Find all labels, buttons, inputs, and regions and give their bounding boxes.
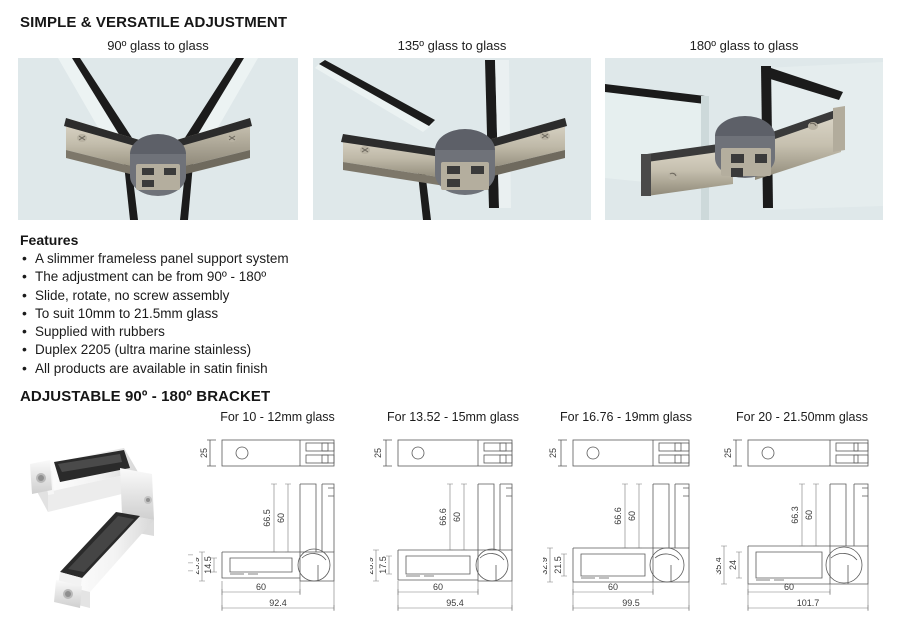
dim-top-height: 25: [723, 448, 733, 458]
dim-horiz-inner: 60: [256, 582, 266, 592]
dim-horiz-outer: 92.4: [269, 598, 287, 608]
dim-horiz-outer: 95.4: [446, 598, 464, 608]
dim-horiz-outer-v: 28.9: [370, 557, 375, 575]
dim-horiz-outer-v: 32.9: [543, 557, 549, 575]
dim-vert-outer: 66.5: [262, 509, 272, 527]
drawing-caption-3: For 20 - 21.50mm glass: [718, 410, 886, 424]
dim-vert-inner: 60: [276, 513, 286, 523]
features-list: A slimmer frameless panel support system…: [20, 250, 380, 378]
dim-horiz-inner-v: 21.5: [553, 556, 563, 574]
dim-vert-inner: 60: [452, 512, 462, 522]
features-block: Features A slimmer frameless panel suppo…: [20, 232, 380, 378]
photo-caption-90: 90º glass to glass: [18, 38, 298, 53]
dim-horiz-outer-v: 35.4: [716, 557, 723, 575]
dim-horiz-outer-v: 25.9: [196, 557, 201, 575]
list-item: All products are available in satin fini…: [20, 360, 380, 378]
dim-horiz-inner-v: 24: [728, 560, 738, 570]
features-heading: Features: [20, 232, 380, 248]
drawing-caption-1: For 13.52 - 15mm glass: [372, 410, 534, 424]
list-item: Duplex 2205 (ultra marine stainless): [20, 341, 380, 359]
photo-caption-180: 180º glass to glass: [605, 38, 883, 53]
dim-vert-inner: 60: [804, 510, 814, 520]
dim-horiz-outer: 99.5: [622, 598, 640, 608]
photo-caption-135: 135º glass to glass: [313, 38, 591, 53]
list-item: To suit 10mm to 21.5mm glass: [20, 305, 380, 323]
dim-top-height: 25: [199, 448, 209, 458]
drawing-caption-2: For 16.76 - 19mm glass: [545, 410, 707, 424]
datasheet-page: SIMPLE & VERSATILE ADJUSTMENT 90º glass …: [0, 0, 899, 640]
list-item: A slimmer frameless panel support system: [20, 250, 380, 268]
list-item: Supplied with rubbers: [20, 323, 380, 341]
drawing-caption-0: For 10 - 12mm glass: [200, 410, 355, 424]
dim-horiz-inner: 60: [608, 582, 618, 592]
dim-top-height: 25: [548, 448, 558, 458]
dim-horiz-inner-v: 14.5: [203, 556, 213, 574]
dim-horiz-inner: 60: [784, 582, 794, 592]
product-render-image: [20, 428, 200, 614]
page-title-bracket: ADJUSTABLE 90º - 180º BRACKET: [20, 388, 270, 405]
technical-drawing-1: 25 66.6 60 28.9 17.5 60 95.4: [370, 432, 536, 627]
dim-horiz-inner: 60: [433, 582, 443, 592]
technical-drawing-3: 25 66.3 60 35.4 24 60 101.7: [716, 432, 890, 627]
list-item: The adjustment can be from 90º - 180º: [20, 268, 380, 286]
photo-90-degree: [18, 58, 298, 220]
list-item: Slide, rotate, no screw assembly: [20, 287, 380, 305]
page-title-adjustment: SIMPLE & VERSATILE ADJUSTMENT: [20, 14, 287, 31]
dim-vert-inner: 60: [627, 511, 637, 521]
dim-horiz-outer: 101.7: [797, 598, 820, 608]
dim-vert-outer: 66.6: [613, 507, 623, 525]
dim-horiz-inner-v: 17.5: [378, 556, 388, 574]
dim-top-height: 25: [373, 448, 383, 458]
technical-drawing-2: 25 66.6 60 32.9 21.5 60 99.5: [543, 432, 711, 627]
photo-135-degree: [313, 58, 591, 220]
photo-180-degree: [605, 58, 883, 220]
technical-drawing-0: 25 66.5 60 25.9 14.5 60 92.4: [196, 432, 358, 627]
dim-vert-outer: 66.6: [438, 508, 448, 526]
dim-vert-outer: 66.3: [790, 506, 800, 524]
